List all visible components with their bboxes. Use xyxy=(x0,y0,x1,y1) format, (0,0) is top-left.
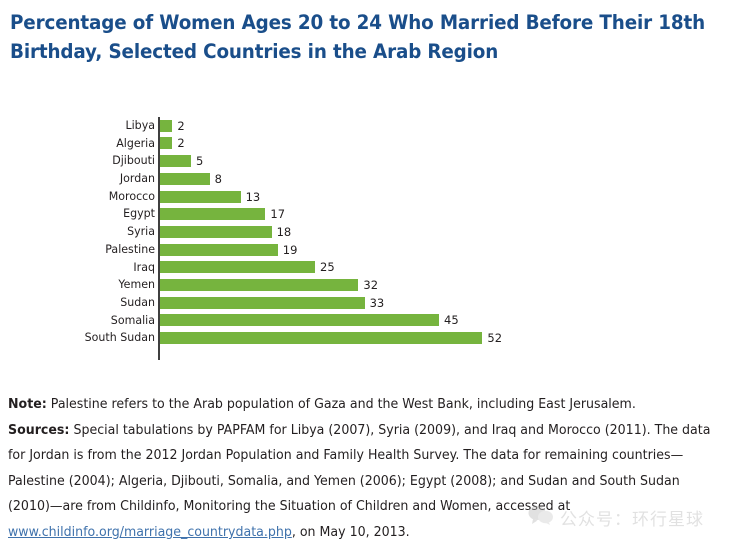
chart-row: Djibouti5 xyxy=(0,152,754,170)
chart-row: Iraq25 xyxy=(0,259,754,277)
bar xyxy=(160,279,358,291)
bar-group: 33 xyxy=(160,297,384,309)
bar xyxy=(160,208,265,220)
bar-value-label: 5 xyxy=(196,155,203,167)
bar-group: 25 xyxy=(160,261,335,273)
bar xyxy=(160,191,241,203)
category-label: Palestine xyxy=(11,241,155,259)
chart-row: Syria18 xyxy=(0,223,754,241)
note-label: Note: xyxy=(8,397,47,412)
bar-chart: Libya2Algeria2Djibouti5Jordan8Morocco13E… xyxy=(0,117,754,367)
category-label: Jordan xyxy=(11,170,155,188)
bar xyxy=(160,332,482,344)
category-label: South Sudan xyxy=(11,329,155,347)
bar-group: 18 xyxy=(160,226,291,238)
footnotes: Note: Palestine refers to the Arab popul… xyxy=(8,392,717,546)
bar-value-label: 2 xyxy=(177,120,184,132)
chart-row: South Sudan52 xyxy=(0,329,754,347)
bar-group: 8 xyxy=(160,173,222,185)
chart-rows: Libya2Algeria2Djibouti5Jordan8Morocco13E… xyxy=(0,117,754,347)
bar-value-label: 45 xyxy=(444,314,459,326)
category-label: Yemen xyxy=(11,276,155,294)
bar-group: 45 xyxy=(160,314,459,326)
bar xyxy=(160,173,210,185)
sources-text-after-link: , on May 10, 2013. xyxy=(292,525,410,540)
category-label: Egypt xyxy=(11,205,155,223)
category-label: Morocco xyxy=(11,188,155,206)
bar xyxy=(160,137,172,149)
sources-label: Sources: xyxy=(8,423,69,438)
note-paragraph: Note: Palestine refers to the Arab popul… xyxy=(8,392,717,418)
chart-row: Somalia45 xyxy=(0,312,754,330)
bar xyxy=(160,226,272,238)
note-text: Palestine refers to the Arab population … xyxy=(47,397,636,412)
bar-group: 17 xyxy=(160,208,285,220)
chart-row: Jordan8 xyxy=(0,170,754,188)
sources-paragraph: Sources: Special tabulations by PAPFAM f… xyxy=(8,418,717,546)
bar-value-label: 2 xyxy=(177,137,184,149)
bar-group: 2 xyxy=(160,137,185,149)
chart-row: Sudan33 xyxy=(0,294,754,312)
category-label: Sudan xyxy=(11,294,155,312)
chart-row: Egypt17 xyxy=(0,205,754,223)
bar-group: 52 xyxy=(160,332,502,344)
bar-group: 13 xyxy=(160,191,260,203)
bar xyxy=(160,297,365,309)
bar-value-label: 8 xyxy=(215,173,222,185)
page-title: Percentage of Women Ages 20 to 24 Who Ma… xyxy=(10,8,709,66)
chart-row: Morocco13 xyxy=(0,188,754,206)
category-label: Djibouti xyxy=(11,152,155,170)
bar xyxy=(160,261,315,273)
bar xyxy=(160,155,191,167)
bar-group: 32 xyxy=(160,279,378,291)
bar-group: 2 xyxy=(160,120,185,132)
bar xyxy=(160,314,439,326)
chart-row: Palestine19 xyxy=(0,241,754,259)
bar-value-label: 18 xyxy=(277,226,292,238)
category-label: Iraq xyxy=(11,259,155,277)
bar-group: 5 xyxy=(160,155,203,167)
bar xyxy=(160,244,278,256)
bar-value-label: 52 xyxy=(487,332,502,344)
bar xyxy=(160,120,172,132)
category-label: Somalia xyxy=(11,312,155,330)
category-label: Algeria xyxy=(11,135,155,153)
bar-value-label: 13 xyxy=(246,191,261,203)
bar-value-label: 19 xyxy=(283,244,298,256)
bar-value-label: 33 xyxy=(370,297,385,309)
childinfo-source-link[interactable]: www.childinfo.org/marriage_countrydata.p… xyxy=(8,525,292,540)
bar-value-label: 32 xyxy=(363,279,378,291)
category-label: Syria xyxy=(11,223,155,241)
bar-group: 19 xyxy=(160,244,297,256)
chart-row: Yemen32 xyxy=(0,276,754,294)
bar-value-label: 17 xyxy=(270,208,285,220)
chart-row: Libya2 xyxy=(0,117,754,135)
bar-value-label: 25 xyxy=(320,261,335,273)
category-label: Libya xyxy=(11,117,155,135)
sources-text-before-link: Special tabulations by PAPFAM for Libya … xyxy=(8,423,710,515)
chart-row: Algeria2 xyxy=(0,135,754,153)
